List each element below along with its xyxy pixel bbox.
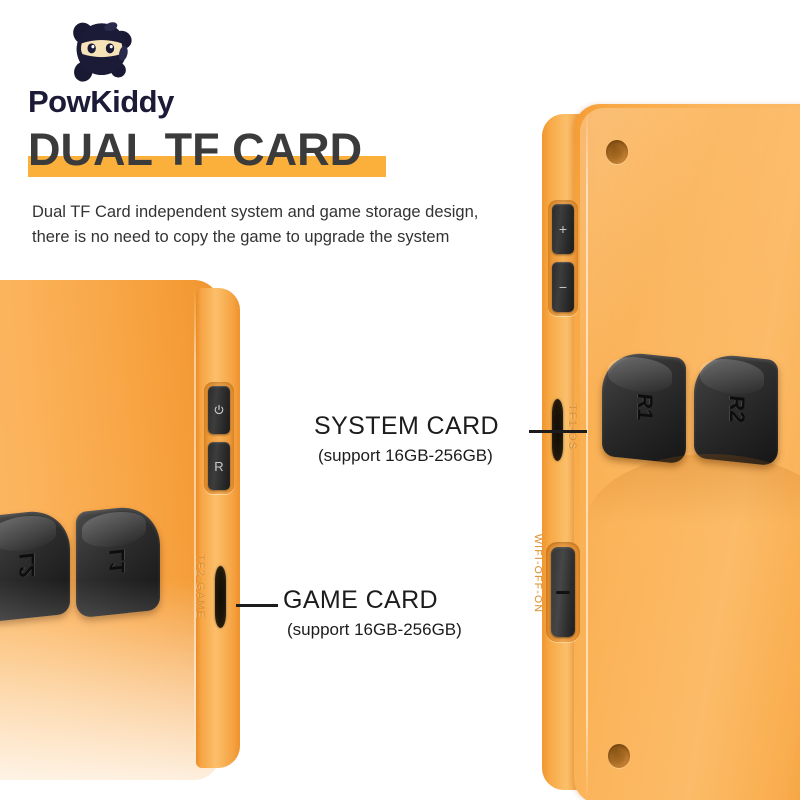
- trigger-label-r2: R2: [683, 361, 789, 456]
- trigger-button-r2[interactable]: R2: [694, 352, 778, 467]
- wifi-switch-notch: [556, 591, 570, 594]
- device-right-console: + − TF1-OS R1 R2 WIFI-OFF-ON: [530, 104, 800, 800]
- subtitle-block: Dual TF Card independent system and game…: [32, 200, 552, 250]
- device-left-edge-highlight: [194, 286, 196, 770]
- callout-system-sub: (support 16GB-256GB): [318, 446, 499, 466]
- volume-up-label: +: [559, 221, 567, 237]
- device-right-edge-highlight: [586, 106, 588, 800]
- reset-button[interactable]: R: [208, 442, 230, 490]
- callout-game-sub: (support 16GB-256GB): [287, 620, 462, 640]
- subtitle-line-2: there is no need to copy the game to upg…: [32, 225, 552, 250]
- trigger-label-r1: R1: [591, 359, 697, 454]
- wifi-switch-label: WIFI-OFF-ON: [532, 534, 544, 613]
- ninja-mascot-icon: [58, 10, 142, 90]
- page-title: DUAL TF CARD: [28, 124, 362, 176]
- volume-down-label: −: [559, 279, 567, 295]
- subtitle-line-1: Dual TF Card independent system and game…: [32, 200, 552, 225]
- power-symbol-icon: [213, 404, 225, 416]
- brand-logo: PowKiddy: [28, 8, 268, 118]
- tf2-game-card-slot[interactable]: [215, 566, 226, 628]
- volume-up-button[interactable]: +: [552, 204, 574, 254]
- device-left-side-rail: [196, 288, 240, 768]
- trigger-button-l2[interactable]: L2: [0, 508, 70, 623]
- reset-button-label: R: [214, 459, 223, 474]
- tf1-slot-label: TF1-OS: [566, 404, 578, 450]
- trigger-label-l1: L1: [65, 513, 171, 608]
- callout-system-leader-line: [529, 430, 587, 433]
- power-button[interactable]: [208, 386, 230, 434]
- callout-game-title: GAME CARD: [283, 586, 462, 615]
- volume-down-button[interactable]: −: [552, 262, 574, 312]
- device-left-console: L2 L1 R TF2-GAME: [0, 280, 260, 800]
- tf2-slot-label: TF2-GAME: [194, 554, 206, 619]
- trigger-button-l1[interactable]: L1: [76, 504, 160, 619]
- screw-hole-bottom: [608, 744, 630, 768]
- callout-game-leader-line: [236, 604, 278, 607]
- callout-game-card: GAME CARD (support 16GB-256GB): [283, 586, 462, 640]
- screw-hole-top: [606, 140, 628, 164]
- product-infographic: L2 L1 R TF2-GAME: [0, 0, 800, 800]
- callout-system-card: SYSTEM CARD (support 16GB-256GB): [314, 412, 499, 466]
- callout-system-title: SYSTEM CARD: [314, 412, 499, 441]
- brand-name: PowKiddy: [28, 84, 174, 120]
- trigger-button-r1[interactable]: R1: [602, 350, 686, 465]
